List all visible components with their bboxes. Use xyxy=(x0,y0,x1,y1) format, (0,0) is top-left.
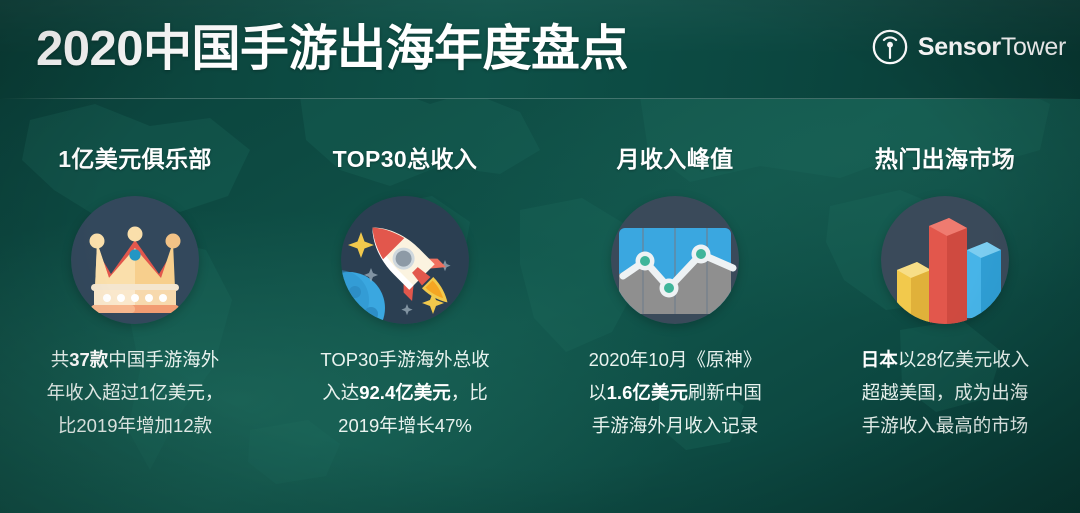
brand-wordmark: SensorTower xyxy=(918,33,1066,62)
card-line: 入达92.4亿美元，比 xyxy=(320,376,489,409)
stat-card-monthly-revenue-peak: 月收入峰值 xyxy=(540,99,810,442)
rocket-icon xyxy=(341,196,469,324)
card-body: 共37款中国手游海外 年收入超过1亿美元， 比2019年增加12款 xyxy=(47,343,224,442)
card-line: TOP30手游海外总收 xyxy=(320,343,489,376)
brand-name-bold: Sensor xyxy=(918,33,1001,61)
sensor-tower-antenna-icon xyxy=(871,28,909,66)
card-title: 热门出海市场 xyxy=(875,140,1015,174)
card-line: 比2019年增加12款 xyxy=(47,409,224,442)
card-line: 共37款中国手游海外 xyxy=(47,343,224,376)
card-body: 2020年10月《原神》 以1.6亿美元刷新中国 手游海外月收入记录 xyxy=(588,343,762,442)
card-line: 手游海外月收入记录 xyxy=(588,409,762,442)
stats-card-row: 1亿美元俱乐部 xyxy=(0,99,1080,513)
card-line: 超越美国，成为出海 xyxy=(861,376,1030,409)
card-line: 年收入超过1亿美元， xyxy=(47,376,224,409)
crown-icon xyxy=(71,196,199,324)
card-line: 以1.6亿美元刷新中国 xyxy=(588,376,762,409)
card-line: 2020年10月《原神》 xyxy=(588,343,762,376)
stat-card-top30-total-revenue: TOP30总收入 xyxy=(270,99,540,442)
card-title: TOP30总收入 xyxy=(333,140,478,174)
line-chart-icon xyxy=(611,196,739,324)
stat-card-hundred-million-club: 1亿美元俱乐部 xyxy=(0,99,270,442)
bar-chart-icon xyxy=(881,196,1009,324)
card-line: 手游收入最高的市场 xyxy=(861,409,1030,442)
page-title: 2020中国手游出海年度盘点 xyxy=(36,18,628,80)
stat-card-top-overseas-markets: 热门出海市场 日本以 xyxy=(810,99,1080,442)
brand-name-light: Tower xyxy=(1001,33,1066,61)
sensor-tower-logo[interactable]: SensorTower xyxy=(871,28,1066,66)
card-body: TOP30手游海外总收 入达92.4亿美元，比 2019年增长47% xyxy=(320,343,489,442)
card-line: 日本以28亿美元收入 xyxy=(861,343,1030,376)
card-title: 1亿美元俱乐部 xyxy=(58,140,212,174)
card-body: 日本以28亿美元收入 超越美国，成为出海 手游收入最高的市场 xyxy=(861,343,1030,442)
infographic-poster: 2020中国手游出海年度盘点 SensorTower 1亿美元俱乐部 xyxy=(0,0,1080,513)
card-title: 月收入峰值 xyxy=(617,140,734,174)
card-line: 2019年增长47% xyxy=(320,409,489,442)
